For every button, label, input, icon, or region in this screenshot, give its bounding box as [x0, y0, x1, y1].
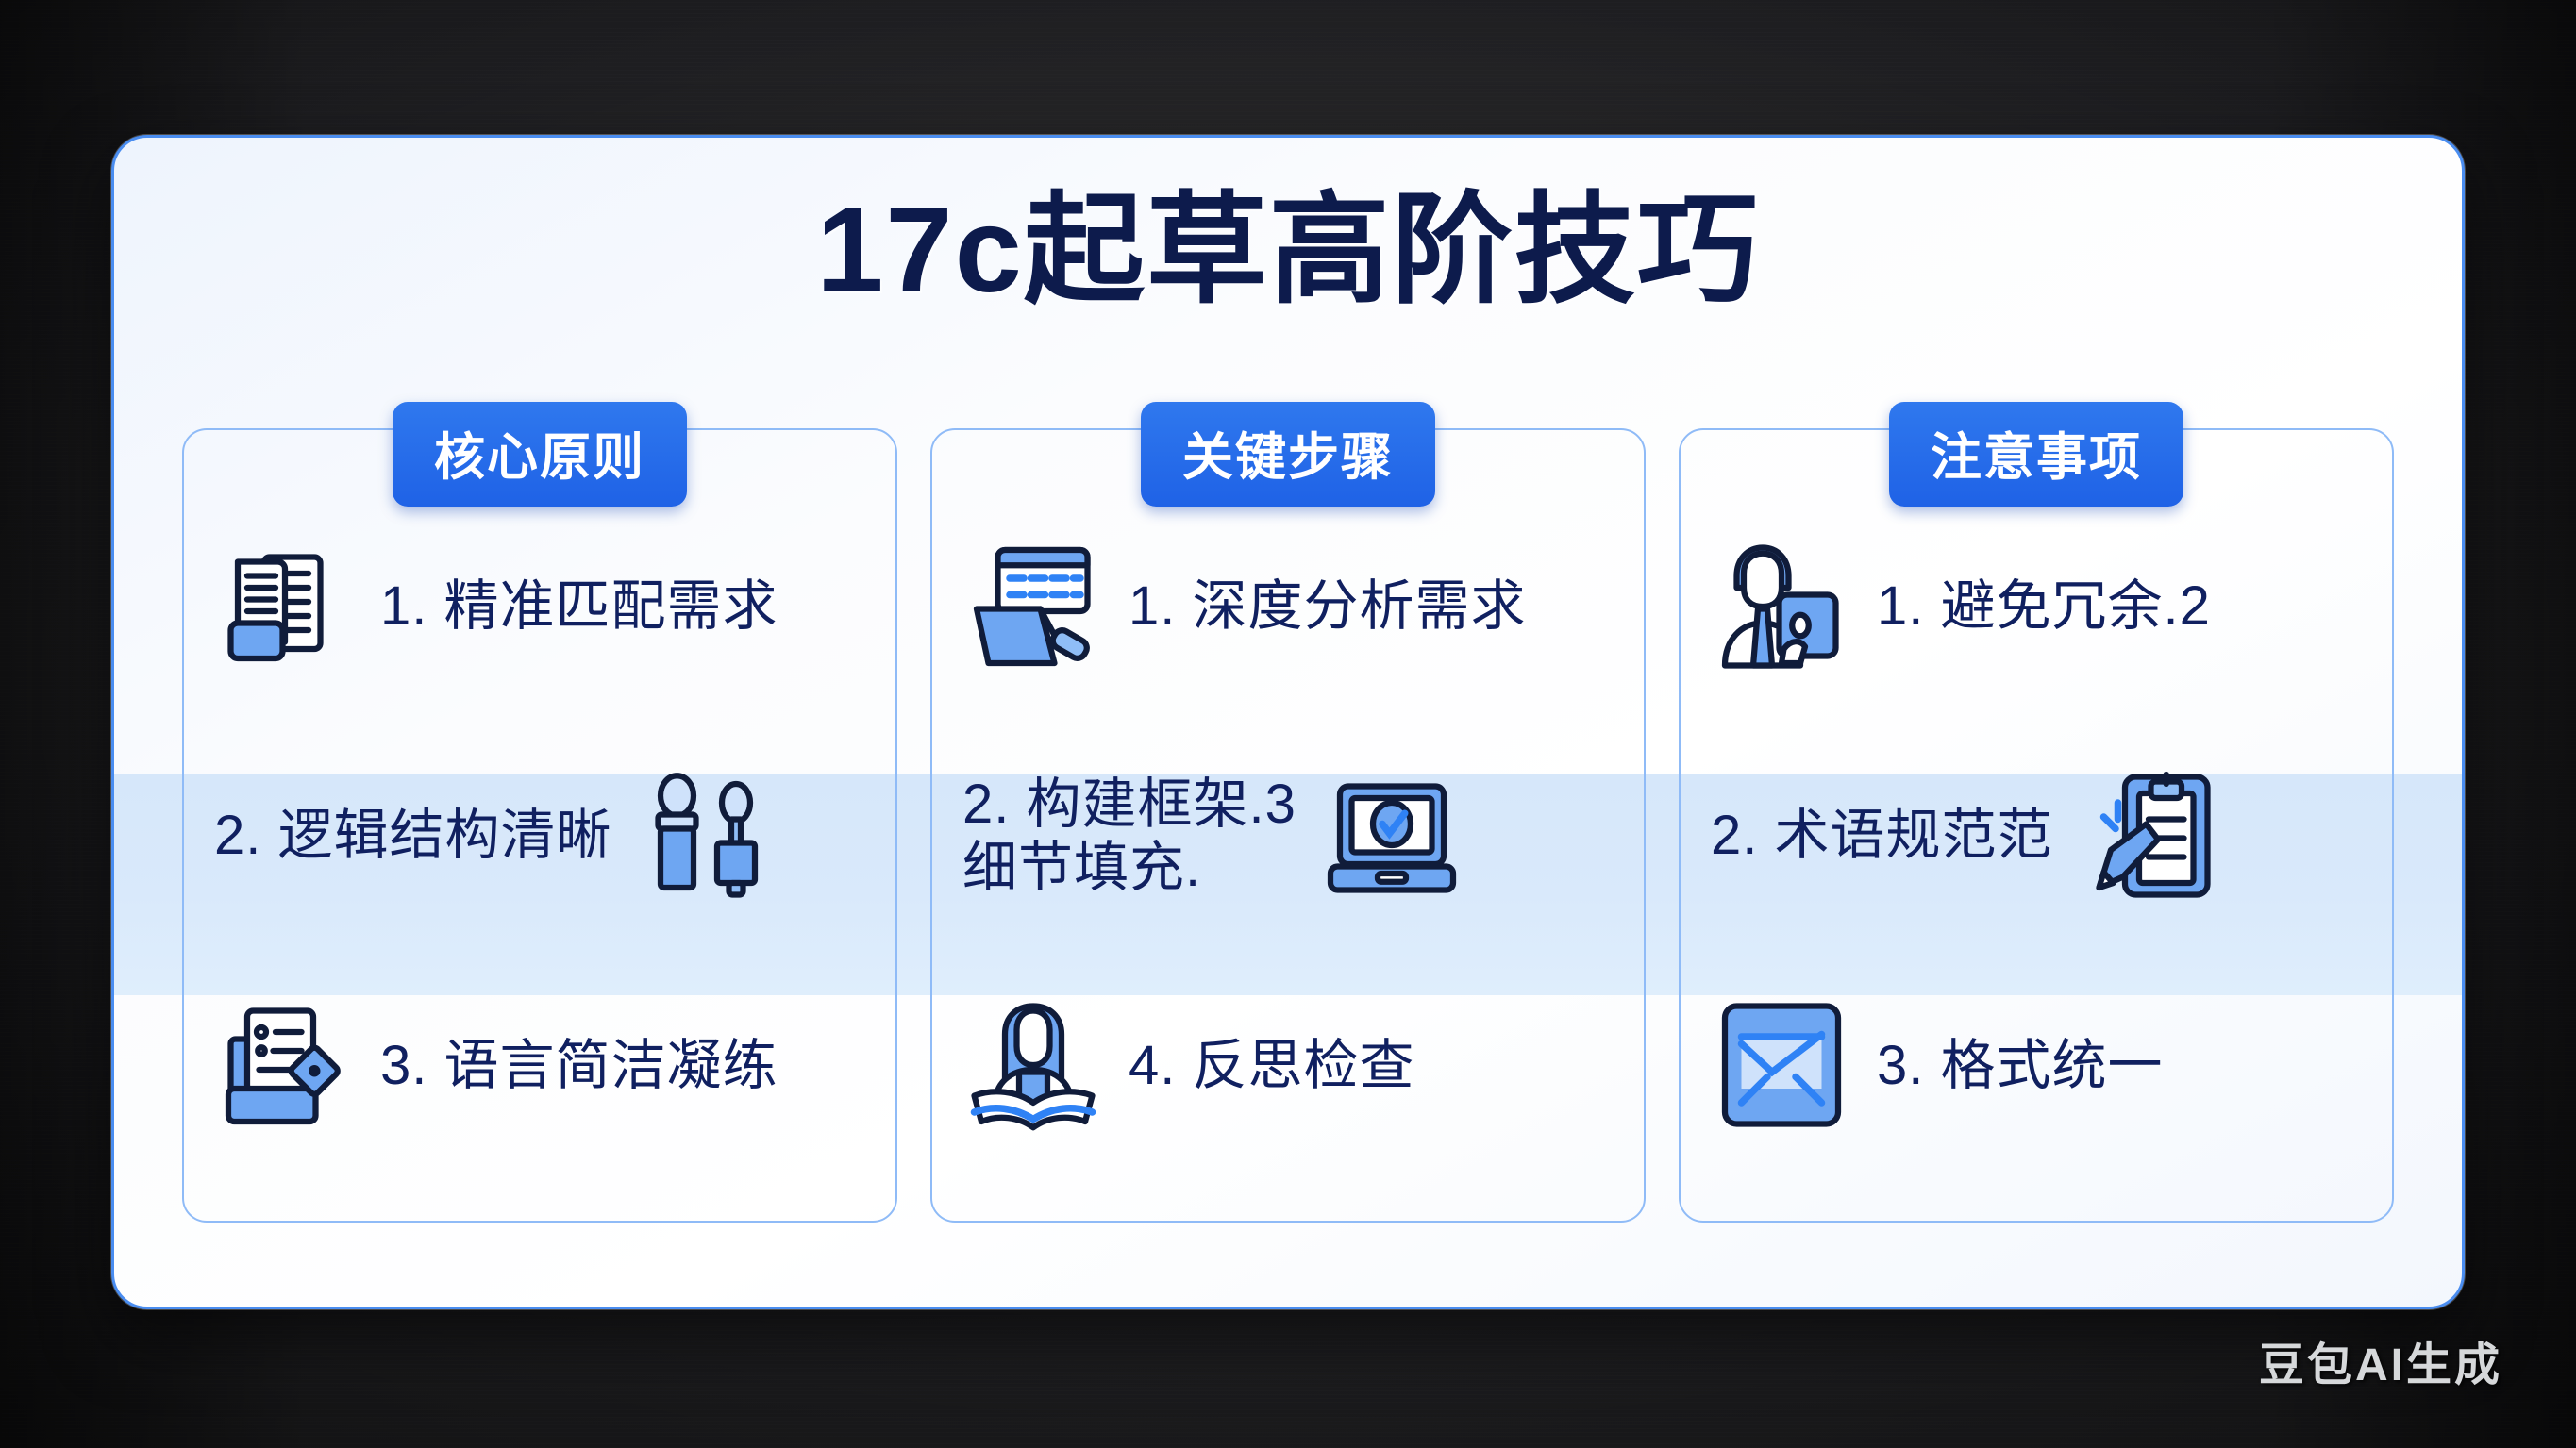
- column-rows: 1. 深度分析需求 2. 构建框架.3 细节填充.: [930, 491, 1646, 1180]
- column-rows: 1. 避免冗余.2 2. 术语规范范: [1679, 491, 2394, 1180]
- documents-icon: [214, 536, 356, 677]
- column-rows: 1. 精准匹配需求 2. 逻辑结构清晰: [182, 491, 897, 1180]
- pillars-icon: [637, 765, 778, 907]
- list-item[interactable]: 1. 精准匹配需求: [182, 491, 897, 721]
- column-core-principles: 核心原则 1. 精准匹配需求: [182, 402, 897, 1223]
- notepad-tag-icon: [214, 994, 356, 1136]
- columns-container: 核心原则 1. 精准匹配需求: [114, 402, 2462, 1251]
- column-header-key-steps[interactable]: 关键步骤: [1141, 402, 1435, 507]
- list-item[interactable]: 1. 深度分析需求: [930, 491, 1646, 721]
- list-item[interactable]: 2. 术语规范范: [1679, 721, 2394, 950]
- list-item[interactable]: 2. 构建框架.3 细节填充.: [930, 721, 1646, 950]
- list-item-label: 1. 精准匹配需求: [380, 574, 778, 638]
- laptop-check-icon: [1321, 765, 1463, 907]
- column-precautions: 注意事项 1. 避免冗余.2: [1679, 402, 2394, 1223]
- slide-backdrop: 17c起草高阶技巧 核心原则 1. 精准匹配: [0, 0, 2576, 1448]
- clipboard-pencil-icon: [2078, 765, 2219, 907]
- chat-check-icon: [1711, 994, 1852, 1136]
- list-item-label: 2. 术语规范范: [1711, 804, 2053, 867]
- watermark: 豆包AI生成: [2259, 1327, 2502, 1393]
- list-item-label: 1. 深度分析需求: [1129, 574, 1527, 638]
- list-item[interactable]: 4. 反思检查: [930, 951, 1646, 1180]
- column-header-core-principles[interactable]: 核心原则: [393, 402, 687, 507]
- list-item-label: 2. 构建框架.3 细节填充.: [962, 773, 1296, 900]
- infographic-card: 17c起草高阶技巧 核心原则 1. 精准匹配: [111, 135, 2465, 1309]
- list-item-label: 1. 避免冗余.2: [1877, 574, 2211, 638]
- list-item-label: 4. 反思检查: [1129, 1034, 1415, 1097]
- list-item[interactable]: 3. 格式统一: [1679, 951, 2394, 1180]
- list-item-label: 3. 语言简洁凝练: [380, 1034, 778, 1097]
- list-item[interactable]: 2. 逻辑结构清晰: [182, 721, 897, 950]
- column-header-precautions[interactable]: 注意事项: [1889, 402, 2183, 507]
- list-item-label: 2. 逻辑结构清晰: [214, 804, 612, 867]
- list-item-label: 3. 格式统一: [1877, 1034, 2164, 1097]
- column-key-steps: 关键步骤 1. 深度分析需求: [930, 402, 1646, 1223]
- reading-person-icon: [962, 994, 1104, 1136]
- list-item[interactable]: 3. 语言简洁凝练: [182, 951, 897, 1180]
- laptop-presentation-icon: [962, 536, 1104, 677]
- page-title: 17c起草高阶技巧: [114, 183, 2462, 318]
- list-item[interactable]: 1. 避免冗余.2: [1679, 491, 2394, 721]
- person-tablet-icon: [1711, 536, 1852, 677]
